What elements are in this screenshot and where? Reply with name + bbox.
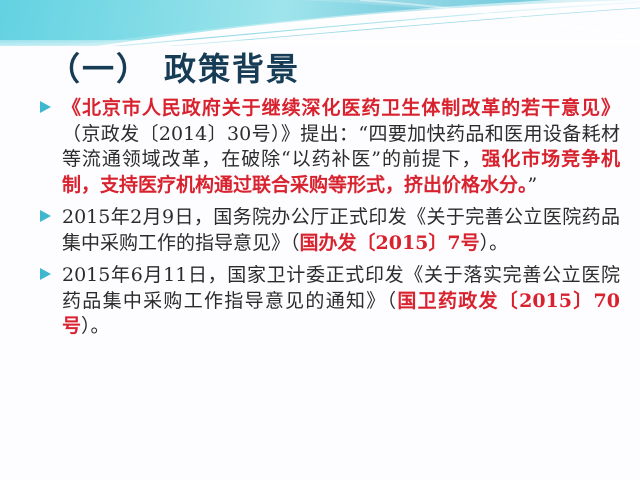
bullet-list: 《北京市人民政府关于继续深化医药卫生体制改革的若干意见》（京政发〔2014〕30…	[40, 96, 620, 342]
header-decoration-band	[0, 0, 640, 46]
list-item: 《北京市人民政府关于继续深化医药卫生体制改革的若干意见》（京政发〔2014〕30…	[40, 96, 620, 198]
arrow-bullet-icon	[40, 268, 51, 280]
list-item: 2015年6月11日，国家卫计委正式印发《关于落实完善公立医院药品集中采购工作指…	[40, 263, 620, 340]
bullet-paragraph-1: 《北京市人民政府关于继续深化医药卫生体制改革的若干意见》（京政发〔2014〕30…	[62, 96, 620, 198]
slide-canvas: （一）政策背景 《北京市人民政府关于继续深化医药卫生体制改革的若干意见》（京政发…	[0, 0, 640, 480]
policy-tail-2: ）。	[480, 232, 509, 254]
policy-doc-number-2: 国办发〔2015〕7号	[300, 232, 480, 254]
page-title: （一）政策背景	[48, 44, 300, 90]
title-text: 政策背景	[164, 50, 300, 88]
arrow-bullet-icon	[40, 210, 51, 222]
bullet-paragraph-2: 2015年2月9日，国务院办公厅正式印发《关于完善公立医院药品集中采购工作的指导…	[62, 205, 620, 256]
policy-quote-close-1: ”	[528, 174, 538, 196]
policy-doc-title-1: 《北京市人民政府关于继续深化医药卫生体制改革的若干意见》	[62, 97, 620, 119]
bullet-paragraph-3: 2015年6月11日，国家卫计委正式印发《关于落实完善公立医院药品集中采购工作指…	[62, 263, 620, 340]
arrow-bullet-icon	[40, 101, 51, 113]
title-prefix: （一）	[48, 50, 150, 88]
policy-tail-3: ）。	[81, 315, 110, 337]
teal-swoosh-icon	[0, 0, 640, 46]
list-item: 2015年2月9日，国务院办公厅正式印发《关于完善公立医院药品集中采购工作的指导…	[40, 205, 620, 256]
